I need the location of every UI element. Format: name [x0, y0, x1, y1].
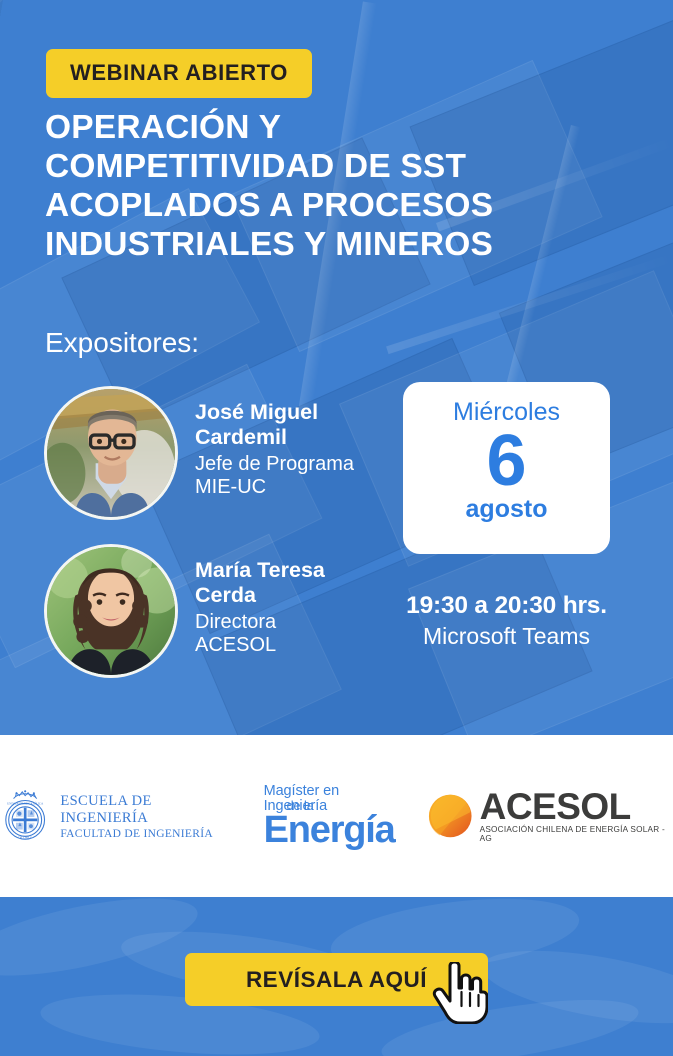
uc-logo-line-2: FACULTAD DE INGENIERÍA — [60, 828, 237, 840]
speaker-card-maria-teresa-cerda: María Teresa Cerda Directora ACESOL — [44, 544, 375, 678]
title-line-3: ACOPLADOS A PROCESOS — [45, 186, 605, 225]
speaker-photo-female-icon — [47, 547, 175, 675]
sponsor-logo-band: UNIVERSIDAD CATÓLICA DE CHILE ESCUELA DE… — [0, 735, 673, 897]
magister-row: Energía de la — [264, 812, 402, 848]
acesol-tagline: ASOCIACIÓN CHILENA DE ENERGÍA SOLAR - AG — [480, 825, 673, 843]
event-month: agosto — [466, 496, 548, 523]
speaker-role: Directora ACESOL — [195, 611, 375, 656]
title-line-1: OPERACIÓN Y — [45, 108, 605, 147]
svg-text:UNIVERSIDAD CATÓLICA: UNIVERSIDAD CATÓLICA — [7, 800, 44, 805]
event-date-card: Miércoles 6 agosto — [403, 382, 610, 554]
acesol-sun-icon — [428, 793, 473, 839]
speaker-name-line-1: José Miguel — [195, 400, 375, 425]
event-time-block: 19:30 a 20:30 hrs. Microsoft Teams — [403, 592, 610, 650]
speaker-text: María Teresa Cerda Directora ACESOL — [195, 544, 375, 656]
event-platform: Microsoft Teams — [403, 623, 610, 650]
speaker-role-line-1: Directora — [195, 611, 375, 634]
title-line-2: COMPETITIVIDAD DE SST — [45, 147, 605, 186]
avatar — [44, 386, 178, 520]
event-time-range: 19:30 a 20:30 hrs. — [403, 592, 610, 620]
avatar — [44, 544, 178, 678]
speaker-name-line-1: María Teresa — [195, 558, 375, 583]
speaker-name-line-2: Cardemil — [195, 425, 375, 450]
speaker-text: José Miguel Cardemil Jefe de Programa MI… — [195, 386, 375, 498]
webinar-badge-label: WEBINAR ABIERTO — [70, 60, 288, 85]
speakers-label: Expositores: — [45, 327, 199, 359]
logo-uc-escuela-ingenieria: UNIVERSIDAD CATÓLICA DE CHILE ESCUELA DE… — [0, 787, 238, 845]
speaker-role-line-2: MIE-UC — [195, 476, 375, 499]
event-day-number: 6 — [486, 424, 526, 498]
speaker-name: María Teresa Cerda — [195, 558, 375, 607]
uc-logo-line-1: ESCUELA DE INGENIERÍA — [60, 793, 237, 827]
logo-acesol: ACESOL ASOCIACIÓN CHILENA DE ENERGÍA SOL… — [428, 789, 673, 843]
speaker-role-line-1: Jefe de Programa — [195, 453, 375, 476]
magister-small-word: de la — [287, 800, 314, 813]
uc-logo-text: ESCUELA DE INGENIERÍA FACULTAD DE INGENI… — [60, 793, 237, 840]
speaker-name: José Miguel Cardemil — [195, 400, 375, 449]
svg-text:DE CHILE: DE CHILE — [18, 835, 32, 839]
page-title: OPERACIÓN Y COMPETITIVIDAD DE SST ACOPLA… — [45, 108, 605, 264]
webinar-badge: WEBINAR ABIERTO — [46, 49, 312, 98]
cta-button-label: REVÍSALA AQUÍ — [246, 967, 427, 993]
acesol-text: ACESOL ASOCIACIÓN CHILENA DE ENERGÍA SOL… — [480, 789, 673, 843]
speaker-name-line-2: Cerda — [195, 583, 375, 608]
uc-shield-seal-icon: UNIVERSIDAD CATÓLICA DE CHILE — [0, 787, 50, 845]
logo-magister-energia: Magíster en Ingeniería Energía de la — [264, 784, 402, 848]
title-line-4: INDUSTRIALES Y MINEROS — [45, 225, 605, 264]
speaker-role-line-2: ACESOL — [195, 634, 375, 657]
acesol-name: ACESOL — [480, 789, 673, 824]
webinar-poster: WEBINAR ABIERTO OPERACIÓN Y COMPETITIVID… — [0, 0, 673, 1056]
speaker-card-jose-miguel-cardemil: José Miguel Cardemil Jefe de Programa MI… — [44, 386, 375, 520]
magister-big-word: Energía — [264, 812, 395, 848]
speaker-role: Jefe de Programa MIE-UC — [195, 453, 375, 498]
speaker-photo-male-icon — [47, 389, 175, 517]
pointing-hand-cursor-icon — [432, 962, 488, 1024]
